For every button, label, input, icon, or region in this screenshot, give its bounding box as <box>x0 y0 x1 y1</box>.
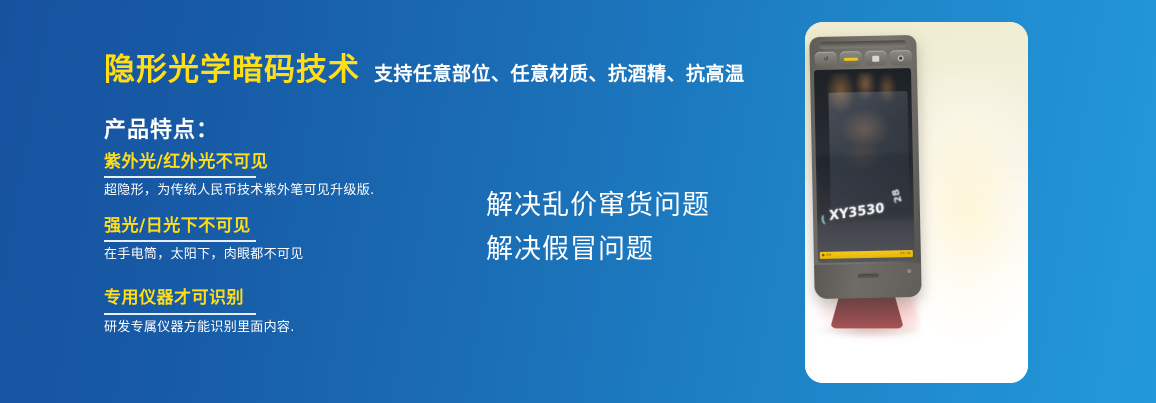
benefit-line-price-control: 解决乱价窜货问题 <box>486 184 710 228</box>
headline-subtitle: 支持任意部位、任意材质、抗酒精、抗高温 <box>374 59 745 86</box>
feature-divider <box>104 313 256 315</box>
device-screen[interactable]: ( XY3530 28 ● 5G 09:16 <box>814 68 915 263</box>
scan-icon: ↺ <box>823 56 828 62</box>
device-button-row: ↺ <box>815 50 912 67</box>
screen-status-bar: ● 5G 09:16 <box>820 250 913 259</box>
home-key[interactable] <box>857 273 879 278</box>
feature-heading: 专用仪器才可识别 <box>104 288 504 309</box>
feature-description: 超隐形，为传统人民币技术紫外笔可见升级版. <box>104 183 504 200</box>
feature-divider <box>104 240 256 242</box>
status-bar-right-text: 09:16 <box>900 252 911 256</box>
headline: 隐形光学暗码技术 支持任意部位、任意材质、抗酒精、抗高温 <box>104 44 745 89</box>
feature-item-uv-ir-invisible: 紫外光/红外光不可见 超隐形，为传统人民币技术紫外笔可见升级版. <box>104 152 504 200</box>
feature-list: 紫外光/红外光不可见 超隐形，为传统人民币技术紫外笔可见升级版. 强光/日光下不… <box>104 152 504 352</box>
scan-button[interactable]: ↺ <box>815 52 837 67</box>
feature-item-daylight-invisible: 强光/日光下不可见 在手电筒，太阳下，肉眼都不可见 <box>104 216 504 264</box>
square-icon <box>872 55 879 61</box>
headline-main-title: 隐形光学暗码技术 <box>104 44 360 89</box>
scene-light-glow <box>912 65 1028 339</box>
feature-heading: 强光/日光下不可见 <box>104 216 504 237</box>
feature-description: 研发专属仪器方能识别里面内容. <box>104 320 504 337</box>
feature-divider <box>104 176 256 178</box>
promotional-banner: 隐形光学暗码技术 支持任意部位、任意材质、抗酒精、抗高温 产品特点： 紫外光/红… <box>0 0 1156 403</box>
chin-sensor-dot <box>907 269 911 273</box>
handheld-scanner-device: ↺ ( XY3530 <box>809 35 921 299</box>
product-features-section-title: 产品特点： <box>104 112 219 144</box>
square-button[interactable] <box>865 51 887 66</box>
power-dot-icon <box>897 55 903 61</box>
power-button[interactable] <box>889 50 911 65</box>
feature-description: 在手电筒，太阳下，肉眼都不可见 <box>104 247 504 264</box>
amber-bar-icon <box>844 57 858 60</box>
product-photo-card: ↺ ( XY3530 <box>805 22 1028 383</box>
benefits-list: 解决乱价窜货问题 解决假冒问题 <box>486 184 710 271</box>
benefit-line-anti-counterfeit: 解决假冒问题 <box>486 228 710 272</box>
device-chin <box>814 263 922 299</box>
status-bar-left-text: ● 5G <box>822 254 832 258</box>
photo-scene: ↺ ( XY3530 <box>805 22 1028 383</box>
amber-indicator-button[interactable] <box>840 51 862 66</box>
feature-heading: 紫外光/红外光不可见 <box>104 152 504 173</box>
feature-item-dedicated-reader: 专用仪器才可识别 研发专属仪器方能识别里面内容. <box>104 288 504 336</box>
